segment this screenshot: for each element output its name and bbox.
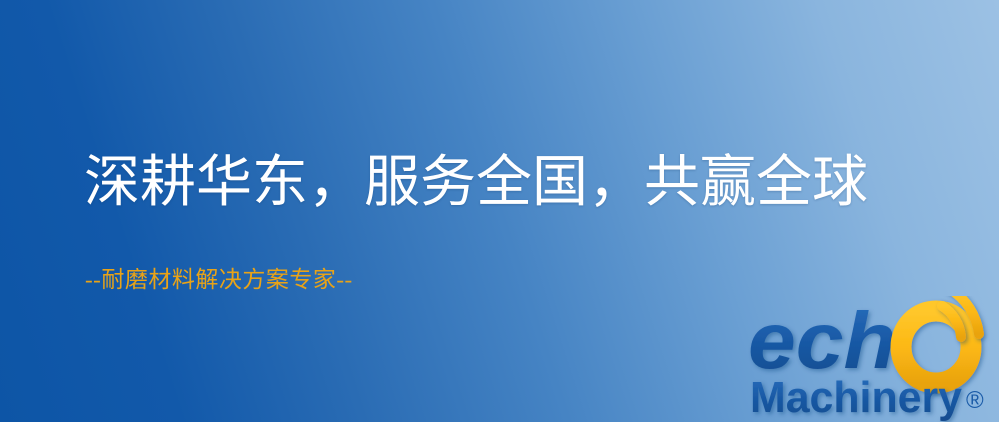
banner-headline: 深耕华东，服务全国，共赢全球: [84, 152, 868, 215]
banner-subtitle: --耐磨材料解决方案专家--: [85, 266, 353, 294]
registered-trademark-icon: ®: [966, 387, 984, 414]
promo-banner: 深耕华东，服务全国，共赢全球 --耐磨材料解决方案专家--: [0, 0, 999, 422]
echo-machinery-logo[interactable]: ech Machinery ®: [746, 296, 999, 422]
logo-wordmark-ech: ech: [748, 296, 896, 385]
logo-tagline-machinery: Machinery: [750, 373, 963, 422]
